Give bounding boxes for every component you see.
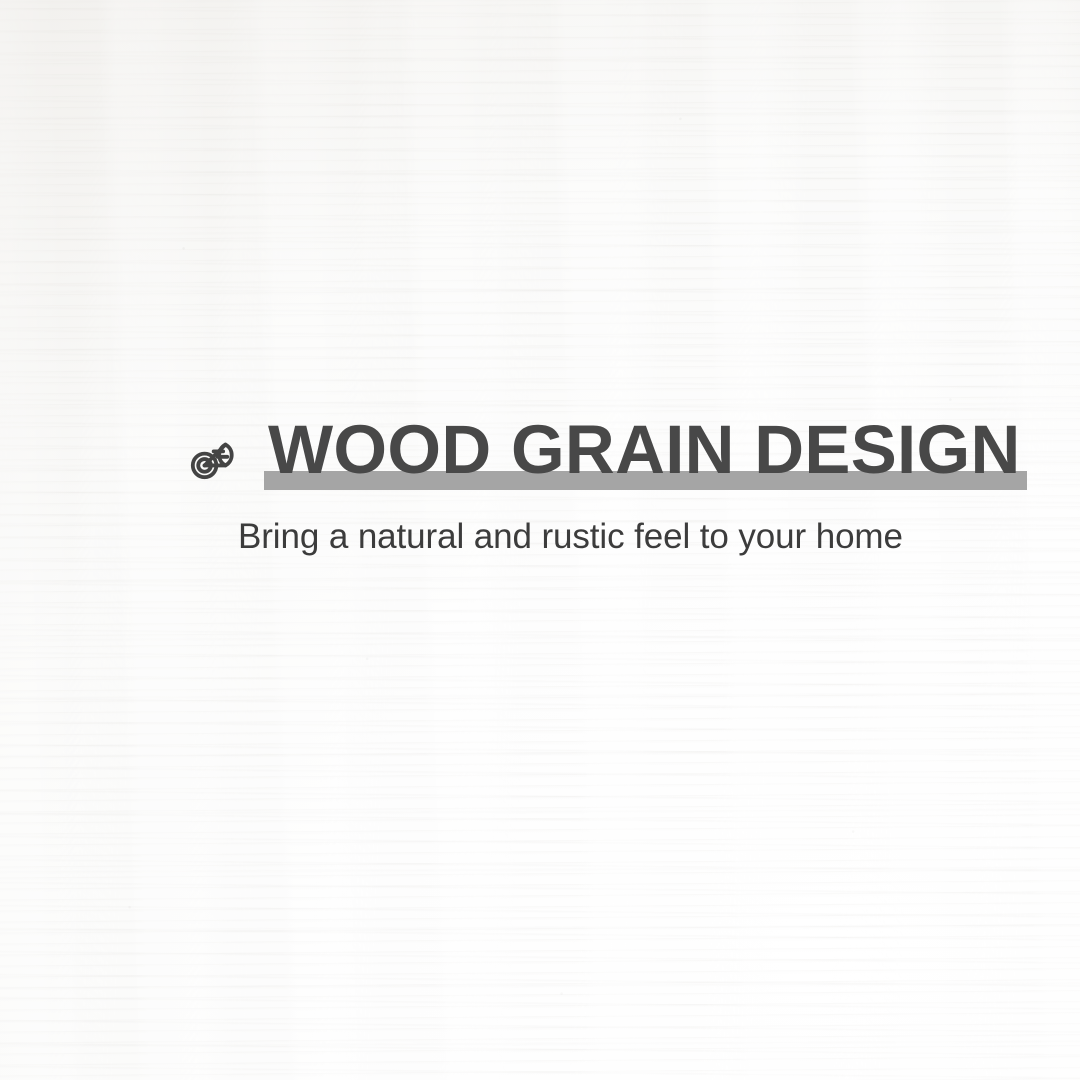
- page-title: WOOD GRAIN DESIGN: [264, 415, 1025, 490]
- product-feature-banner: WOOD GRAIN DESIGN Bring a natural and ru…: [0, 0, 1080, 1080]
- feature-title-wrap: WOOD GRAIN DESIGN: [264, 415, 1025, 490]
- feature-subtitle: Bring a natural and rustic feel to your …: [238, 516, 903, 558]
- wood-log-icon: [186, 426, 244, 484]
- feature-content: WOOD GRAIN DESIGN Bring a natural and ru…: [0, 0, 1080, 1080]
- headline-row: WOOD GRAIN DESIGN: [186, 416, 1025, 488]
